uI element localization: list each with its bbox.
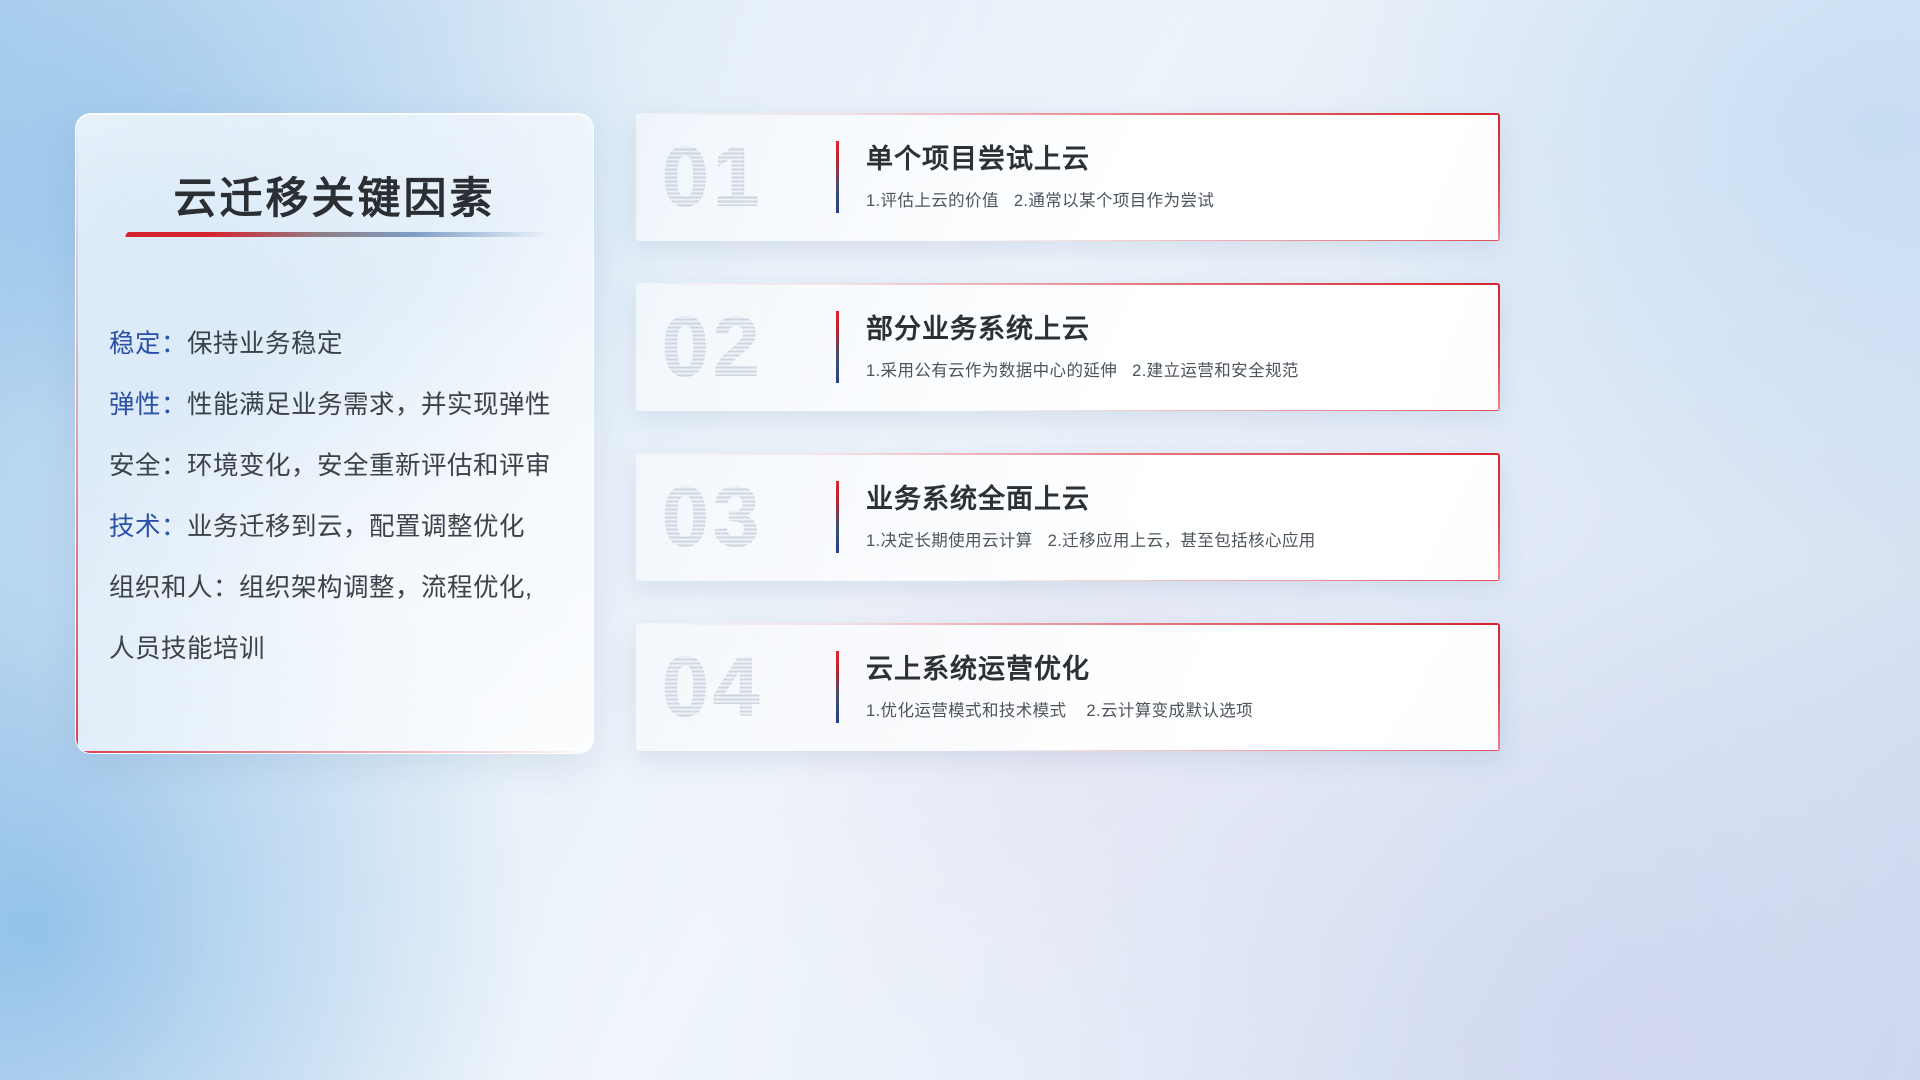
card-title: 业务系统全面上云 bbox=[866, 481, 1476, 517]
factor-item-stability: 稳定：保持业务稳定 bbox=[109, 314, 571, 375]
card-description: 1.优化运营模式和技术模式 2.云计算变成默认选项 bbox=[866, 700, 1476, 722]
card-divider-line bbox=[836, 651, 839, 723]
card-text-block: 业务系统全面上云 1.决定长期使用云计算 2.迁移应用上云，甚至包括核心应用 bbox=[866, 481, 1476, 552]
card-description: 1.评估上云的价值 2.通常以某个项目作为尝试 bbox=[866, 190, 1476, 212]
card-bottom-accent-line bbox=[964, 410, 1500, 411]
key-factors-panel: 云迁移关键因素 稳定：保持业务稳定 弹性：性能满足业务需求，并实现弹性 安全：环… bbox=[75, 113, 594, 754]
card-bottom-accent-line bbox=[964, 580, 1500, 581]
card-right-accent-line bbox=[1498, 453, 1500, 581]
factor-text: 业务迁移到云，配置调整优化 bbox=[187, 513, 525, 541]
card-text-block: 单个项目尝试上云 1.评估上云的价值 2.通常以某个项目作为尝试 bbox=[866, 141, 1476, 212]
factor-text: 组织架构调整，流程优化, bbox=[239, 574, 533, 602]
card-number-watermark: 01 bbox=[662, 129, 763, 226]
factor-text: 环境变化，安全重新评估和评审 bbox=[187, 452, 551, 480]
stage-card-03[interactable]: 03 业务系统全面上云 1.决定长期使用云计算 2.迁移应用上云，甚至包括核心应… bbox=[636, 453, 1500, 581]
card-right-accent-line bbox=[1498, 283, 1500, 411]
factor-item-elasticity: 弹性：性能满足业务需求，并实现弹性 bbox=[109, 375, 571, 436]
page-title: 云迁移关键因素 bbox=[76, 164, 593, 226]
factor-item-security: 安全：环境变化，安全重新评估和评审 bbox=[109, 436, 571, 497]
card-number-watermark: 02 bbox=[662, 299, 763, 396]
factor-text: 保持业务稳定 bbox=[187, 330, 343, 358]
card-right-accent-line bbox=[1498, 113, 1500, 241]
card-divider-line bbox=[836, 141, 839, 213]
card-number-watermark: 03 bbox=[662, 469, 763, 566]
factor-text: 性能满足业务需求，并实现弹性 bbox=[187, 391, 551, 419]
factor-label: 安全： bbox=[109, 452, 187, 480]
panel-bottom-accent-line bbox=[76, 751, 593, 753]
card-top-accent-line bbox=[636, 623, 1500, 625]
stage-card-04[interactable]: 04 云上系统运营优化 1.优化运营模式和技术模式 2.云计算变成默认选项 bbox=[636, 623, 1500, 751]
factor-item-organization: 组织和人：组织架构调整，流程优化, bbox=[109, 558, 571, 619]
card-divider-line bbox=[836, 481, 839, 553]
card-title: 部分业务系统上云 bbox=[866, 311, 1476, 347]
stage-card-list: 01 单个项目尝试上云 1.评估上云的价值 2.通常以某个项目作为尝试 02 部… bbox=[636, 113, 1500, 751]
factor-label: 技术： bbox=[109, 513, 187, 541]
factor-text: 人员技能培训 bbox=[109, 635, 265, 663]
card-number-watermark: 04 bbox=[662, 639, 763, 736]
card-text-block: 云上系统运营优化 1.优化运营模式和技术模式 2.云计算变成默认选项 bbox=[866, 651, 1476, 722]
stage-card-02[interactable]: 02 部分业务系统上云 1.采用公有云作为数据中心的延伸 2.建立运营和安全规范 bbox=[636, 283, 1500, 411]
card-bottom-accent-line bbox=[964, 750, 1500, 751]
card-top-accent-line bbox=[636, 113, 1500, 115]
card-top-accent-line bbox=[636, 453, 1500, 455]
card-description: 1.采用公有云作为数据中心的延伸 2.建立运营和安全规范 bbox=[866, 360, 1476, 382]
slide-canvas: 云迁移关键因素 稳定：保持业务稳定 弹性：性能满足业务需求，并实现弹性 安全：环… bbox=[0, 0, 1920, 1080]
card-top-accent-line bbox=[636, 283, 1500, 285]
factor-label: 组织和人： bbox=[109, 574, 239, 602]
card-divider-line bbox=[836, 311, 839, 383]
stage-card-01[interactable]: 01 单个项目尝试上云 1.评估上云的价值 2.通常以某个项目作为尝试 bbox=[636, 113, 1500, 241]
card-text-block: 部分业务系统上云 1.采用公有云作为数据中心的延伸 2.建立运营和安全规范 bbox=[866, 311, 1476, 382]
factor-label: 弹性： bbox=[109, 391, 187, 419]
card-title: 云上系统运营优化 bbox=[866, 651, 1476, 687]
card-title: 单个项目尝试上云 bbox=[866, 141, 1476, 177]
factor-list: 稳定：保持业务稳定 弹性：性能满足业务需求，并实现弹性 安全：环境变化，安全重新… bbox=[109, 314, 571, 680]
card-description: 1.决定长期使用云计算 2.迁移应用上云，甚至包括核心应用 bbox=[866, 530, 1476, 552]
card-right-accent-line bbox=[1498, 623, 1500, 751]
card-bottom-accent-line bbox=[964, 240, 1500, 241]
factor-item-organization-continued: 人员技能培训 bbox=[109, 619, 571, 680]
factor-item-technology: 技术：业务迁移到云，配置调整优化 bbox=[109, 497, 571, 558]
title-underline-gradient bbox=[125, 232, 549, 237]
factor-label: 稳定： bbox=[109, 330, 187, 358]
